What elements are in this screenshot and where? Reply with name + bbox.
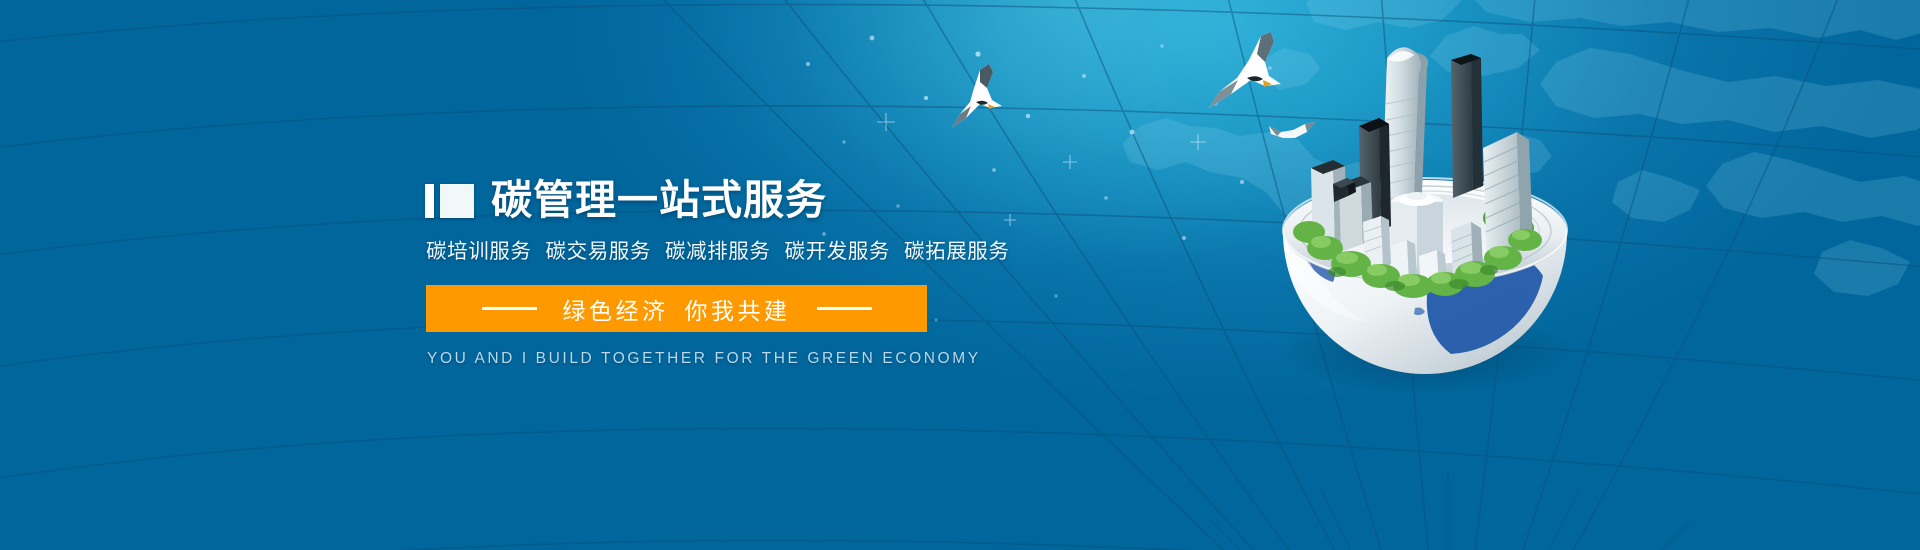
hero-banner: 碳管理一站式服务 碳培训服务碳交易服务碳减排服务碳开发服务碳拓展服务 绿色经济你… [0,0,1920,550]
slogan-right: 你我共建 [685,298,791,324]
banner-content: 碳管理一站式服务 碳培训服务碳交易服务碳减排服务碳开发服务碳拓展服务 绿色经济你… [425,180,1065,368]
slogan-banner[interactable]: 绿色经济你我共建 [426,285,927,332]
rule-left-icon [482,307,537,310]
page-title: 碳管理一站式服务 [491,180,827,221]
logo-square-icon [440,184,474,218]
service-item: 碳开发服务 [785,240,891,263]
service-item: 碳培训服务 [426,240,532,263]
service-item: 碳减排服务 [665,240,771,263]
english-tagline: YOU AND I BUILD TOGETHER FOR THE GREEN E… [427,350,1065,368]
seagull-icon [940,62,1018,134]
slogan-text: 绿色经济你我共建 [563,292,791,326]
rule-right-icon [817,307,872,310]
headline-row: 碳管理一站式服务 [425,180,1065,221]
globe-city-illustration [1255,20,1585,420]
logo-bar-icon [425,184,434,218]
slogan-left: 绿色经济 [563,298,669,324]
service-item: 碳拓展服务 [904,240,1010,263]
logo-mark [425,184,474,218]
service-item: 碳交易服务 [546,240,652,263]
service-list: 碳培训服务碳交易服务碳减排服务碳开发服务碳拓展服务 [426,234,1065,264]
